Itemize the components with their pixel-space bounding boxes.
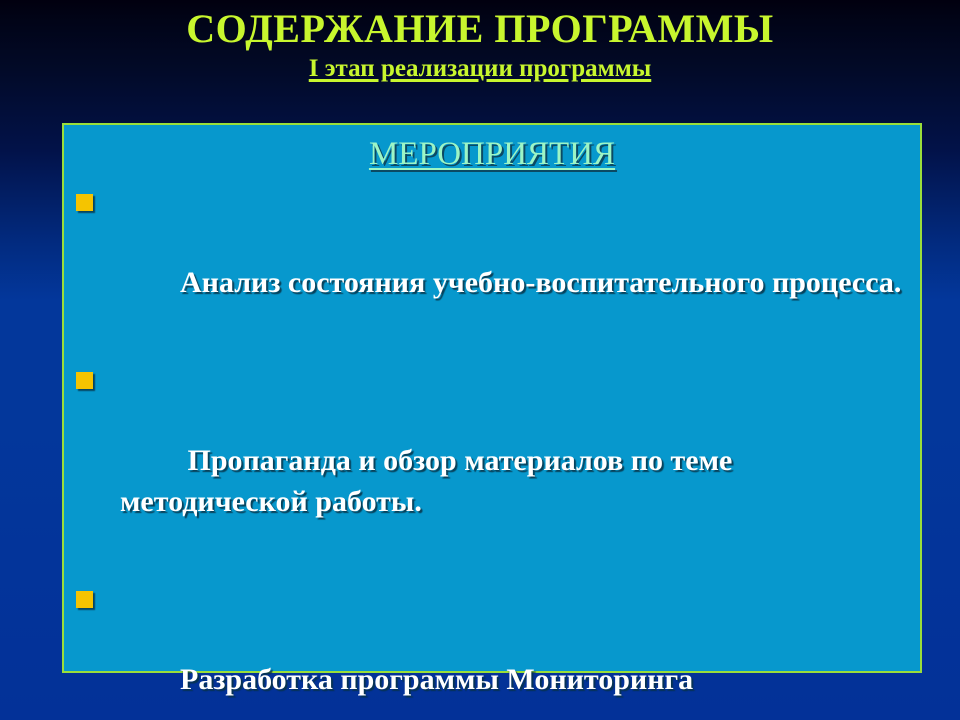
- list-item: Пропаганда и обзор материалов по теме ме…: [72, 358, 902, 563]
- list-item: Разработка программы Мониторинга: [72, 577, 902, 720]
- page-title: СОДЕРЖАНИЕ ПРОГРАММЫ: [0, 6, 960, 52]
- square-bullet-icon: [76, 372, 93, 389]
- list-item-text: Разработка программы Мониторинга: [180, 663, 693, 696]
- bullet-list: Анализ состояния учебно-воспитательного …: [64, 174, 920, 720]
- page-subtitle: I этап реализации программы: [0, 54, 960, 84]
- list-item-text: Анализ состояния учебно-воспитательного …: [180, 266, 901, 299]
- content-panel: МЕРОПРИЯТИЯ Анализ состояния учебно-восп…: [62, 123, 922, 673]
- square-bullet-icon: [76, 591, 93, 608]
- slide-canvas: СОДЕРЖАНИЕ ПРОГРАММЫ I этап реализации п…: [0, 0, 960, 720]
- panel-header: МЕРОПРИЯТИЯ: [64, 134, 920, 174]
- square-bullet-icon: [76, 194, 93, 211]
- list-item: Анализ состояния учебно-воспитательного …: [72, 180, 902, 344]
- list-item-text: Пропаганда и обзор материалов по теме ме…: [120, 444, 740, 518]
- title-block: СОДЕРЖАНИЕ ПРОГРАММЫ I этап реализации п…: [0, 6, 960, 84]
